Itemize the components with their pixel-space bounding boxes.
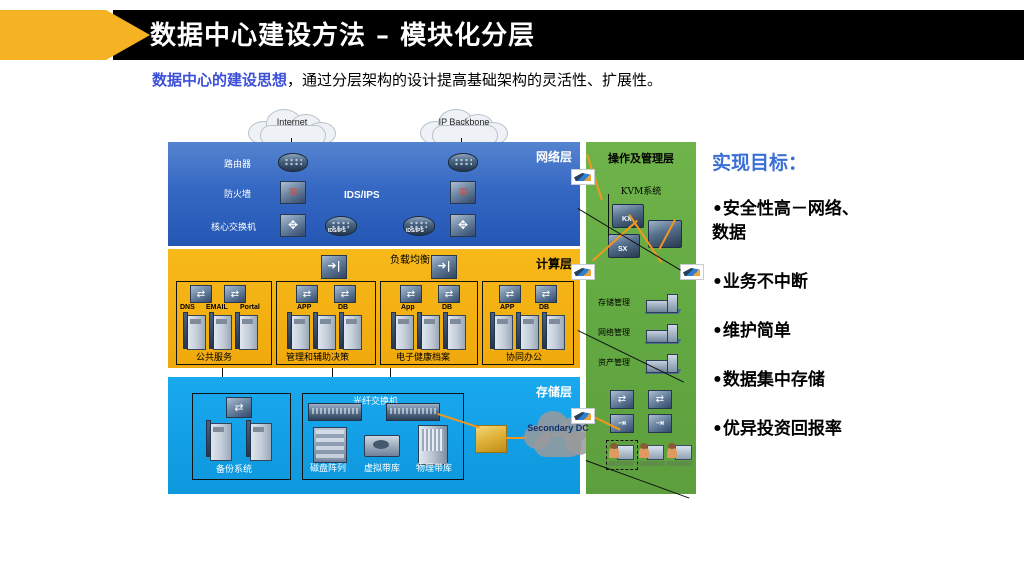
layer-storage-title: 存储层	[536, 383, 572, 400]
switch-icon: ⇄	[438, 285, 460, 303]
network-mgmt-icon	[646, 324, 680, 344]
monitor	[617, 445, 634, 460]
page-subtitle: 数据中心的建设思想，通过分层架构的设计提高基础架构的灵活性、扩展性。	[152, 68, 1012, 92]
network-row-label-router: 路由器	[224, 157, 251, 170]
layer-network-title: 网络层	[536, 148, 572, 165]
layer-compute: 计算层 负载均衡 ➜| ➜| ⇄ ⇄ DNS EMAIL Portal 公共服务…	[168, 249, 580, 368]
core-switch-icon: ✥	[280, 214, 306, 237]
compute-node-label: DB	[338, 304, 348, 311]
switch-icon: ⇄	[648, 390, 672, 409]
router-small-icon: ⇥	[610, 414, 634, 433]
goals-panel: 实现目标： •安全性高－网络、数据 •业务不中断 •维护简单 •数据集中存储 •…	[712, 148, 1012, 466]
management-pen-icon	[571, 169, 595, 185]
compute-node-label: Portal	[240, 304, 260, 311]
ids-ips-tag: IDS/IPS	[406, 228, 424, 234]
goal-item: •维护简单	[712, 319, 1012, 343]
server-icon	[494, 315, 513, 350]
physical-tape-library-icon	[418, 425, 448, 465]
icon-tower	[667, 324, 678, 343]
person	[639, 447, 649, 458]
goal-item: •数据集中存储	[712, 368, 1012, 392]
virtual-tape-library-icon	[364, 435, 400, 457]
fc-switch-icon	[308, 403, 362, 421]
compute-group-label: 电子健康档案	[396, 350, 450, 363]
goal-item: •安全性高－网络、数据	[712, 197, 872, 245]
server-icon	[210, 423, 232, 461]
compute-node-label: DNS	[180, 304, 195, 311]
cloud-label: IP Backbone	[418, 117, 510, 127]
switch-icon: ⇄	[400, 285, 422, 303]
disk-array-icon	[313, 427, 347, 463]
secondary-dc-label: Secondary DC	[520, 423, 596, 434]
switch-icon: ⇄	[334, 285, 356, 303]
page-title: 数据中心建设方法 – 模块化分层	[150, 18, 950, 54]
management-pen-icon	[680, 264, 704, 280]
switch-icon: ⇄	[296, 285, 318, 303]
storage-mgmt-icon	[646, 294, 680, 314]
kvm-label: KVM系统	[586, 184, 696, 197]
server-icon	[447, 315, 466, 350]
person	[667, 447, 677, 458]
icon-base	[637, 461, 666, 466]
icon-tower	[667, 354, 678, 373]
goal-item: •业务不中断	[712, 270, 1012, 294]
cloud-puff	[534, 433, 582, 457]
router-icon	[448, 153, 478, 172]
compute-node-label: App	[401, 304, 415, 311]
mgmt-item-label: 资产管理	[598, 357, 630, 368]
server-icon	[421, 315, 440, 350]
compute-group-label: 公共服务	[196, 350, 232, 363]
compute-group-label: 管理和辅助决策	[286, 350, 349, 363]
compute-node-label: DB	[442, 304, 452, 311]
kvm-console-icon	[648, 220, 682, 248]
goals-heading: 实现目标：	[712, 148, 1012, 175]
firewall-icon: ▥	[450, 181, 476, 204]
fc-switch-icon	[386, 403, 440, 421]
load-balancer-icon: ➜|	[321, 255, 347, 279]
storage-device-label: 磁盘阵列	[310, 461, 346, 474]
goal-item: •优异投资回报率	[712, 417, 1012, 441]
cloud-ip-backbone: IP Backbone	[418, 105, 510, 145]
router-icon	[278, 153, 308, 172]
firewall-icon: ▥	[280, 181, 306, 204]
subtitle-rest: ，通过分层架构的设计提高基础架构的灵活性、扩展性。	[287, 71, 662, 89]
icon-tower	[667, 294, 678, 313]
ids-ips-label: IDS/IPS	[344, 190, 380, 201]
compute-group-label: 协同办公	[506, 350, 542, 363]
tape-gateway-icon	[475, 425, 507, 453]
compute-node-label: APP	[297, 304, 311, 311]
switch-icon: ⇄	[226, 397, 252, 418]
server-icon	[213, 315, 232, 350]
compute-node-label: EMAIL	[206, 304, 228, 311]
switch-icon: ⇄	[190, 285, 212, 303]
switch-icon: ⇄	[224, 285, 246, 303]
ops-link	[608, 194, 609, 236]
operator-workstation-icon	[638, 444, 664, 466]
monitor	[675, 445, 692, 460]
switch-icon: ⇄	[499, 285, 521, 303]
server-icon	[343, 315, 362, 350]
server-icon	[291, 315, 310, 350]
layer-compute-title: 计算层	[536, 255, 572, 272]
load-balancer-icon: ➜|	[431, 255, 457, 279]
ids-ips-tag: IDS/IPS	[328, 228, 346, 234]
person	[609, 447, 619, 458]
load-balancer-label: 负载均衡	[390, 251, 430, 266]
operator-workstation-icon	[666, 444, 692, 466]
compute-node-label: DB	[539, 304, 549, 311]
server-icon	[239, 315, 258, 350]
network-row-label-firewall: 防火墙	[224, 187, 251, 200]
management-pen-icon	[571, 264, 595, 280]
core-switch-icon: ✥	[450, 214, 476, 237]
switch-icon: ⇄	[535, 285, 557, 303]
server-icon	[187, 315, 206, 350]
storage-device-label: 虚拟带库	[364, 461, 400, 474]
layer-storage: 存储层 ⇄ 备份系统 光纤交换机 磁盘阵列 虚拟带库 物理带库 Secondar…	[168, 377, 580, 494]
compute-node-label: APP	[500, 304, 514, 311]
cloud-label: Internet	[246, 117, 338, 127]
icon-base	[665, 461, 694, 466]
kvm-unit-label: SX	[618, 246, 627, 253]
operator-workstation-icon	[608, 444, 634, 466]
storage-device-label: 物理带库	[416, 461, 452, 474]
server-icon	[250, 423, 272, 461]
server-icon	[395, 315, 414, 350]
ops-panel-title: 操作及管理层	[586, 150, 696, 166]
server-icon	[317, 315, 336, 350]
server-icon	[546, 315, 565, 350]
slide-root: 数据中心建设方法 – 模块化分层 数据中心的建设思想，通过分层架构的设计提高基础…	[0, 0, 1024, 576]
icon-base	[607, 461, 636, 466]
monitor	[647, 445, 664, 460]
layer-network: 网络层 路由器 防火墙 核心交换机 ▥ ▥ ✥ ✥ IDS/IPS IDS/IP…	[168, 142, 580, 246]
switch-icon: ⇄	[610, 390, 634, 409]
mgmt-item-label: 网络管理	[598, 327, 630, 338]
mgmt-item-label: 存储管理	[598, 297, 630, 308]
network-row-label-core-switch: 核心交换机	[211, 220, 256, 233]
subtitle-highlight: 数据中心的建设思想	[152, 71, 287, 89]
ops-management-panel: 操作及管理层 KVM系统 KX SX 存储管理 网络管理 资产管理 ⇄ ⇄ ⇥ …	[586, 142, 696, 494]
router-small-icon: ⇥	[648, 414, 672, 433]
backup-group-label: 备份系统	[216, 462, 252, 475]
management-pen-icon	[571, 408, 595, 424]
server-icon	[520, 315, 539, 350]
